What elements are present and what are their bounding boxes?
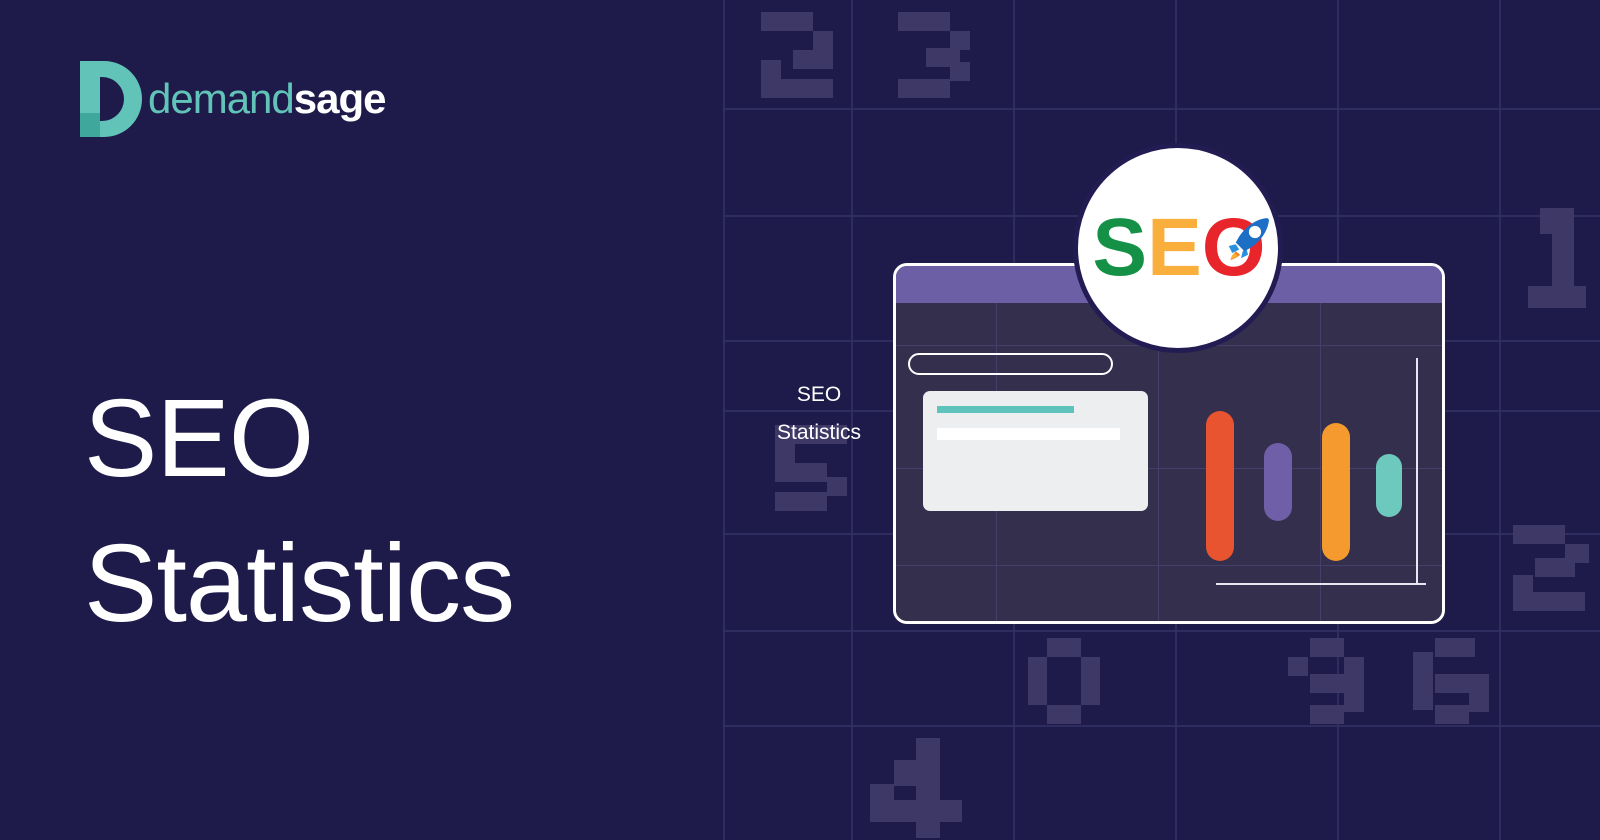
search-input[interactable] [908, 353, 1113, 375]
pixel-digit-1 [1518, 208, 1588, 308]
pixel-digit-2 [1513, 525, 1599, 611]
page-title-line-2: Statistics [84, 511, 704, 656]
poster-canvas: demandsage SEO Statistics SEO Statistics [0, 0, 1600, 840]
brand-name-part-1: demand [148, 75, 294, 122]
seo-badge: S E O [1073, 143, 1283, 353]
chart-axis-vertical [1416, 358, 1418, 583]
seo-letter-s: S [1092, 207, 1145, 289]
page-title: SEO Statistics [84, 366, 704, 656]
chart-bar [1322, 423, 1350, 561]
pixel-digit-4 [868, 738, 954, 838]
logo-d-mark-icon [80, 61, 142, 137]
chart-bar [1376, 454, 1402, 517]
seo-statistics-caption: SEO Statistics [724, 376, 914, 452]
grid-line-horizontal [723, 630, 1600, 632]
grid-line-vertical [1499, 0, 1501, 840]
seo-letter-e: E [1147, 207, 1200, 289]
pixel-digit-3 [898, 12, 984, 98]
caption-line-1: SEO [724, 376, 914, 414]
card-accent-line [937, 406, 1074, 413]
pixel-digit-2 [761, 12, 847, 98]
brand-wordmark: demandsage [148, 78, 386, 120]
chart-bar [1264, 443, 1292, 521]
bar-chart [1186, 338, 1426, 603]
brand-name-part-2: sage [294, 75, 386, 122]
chart-axis-horizontal [1216, 583, 1426, 585]
grid-line-horizontal [723, 725, 1600, 727]
content-card [923, 391, 1148, 511]
seo-badge-letters: S E O [1092, 207, 1263, 289]
caption-line-2: Statistics [724, 414, 914, 452]
rocket-icon [1220, 211, 1276, 267]
grid-line-horizontal [723, 108, 1600, 110]
pixel-digit-0 [1028, 638, 1100, 724]
pixel-digit-9 [1288, 638, 1364, 724]
brand-logo[interactable]: demandsage [80, 60, 386, 138]
card-text-line [937, 428, 1120, 440]
page-title-line-1: SEO [84, 366, 704, 511]
chart-bar [1206, 411, 1234, 561]
pixel-digit-6 [1413, 638, 1489, 724]
